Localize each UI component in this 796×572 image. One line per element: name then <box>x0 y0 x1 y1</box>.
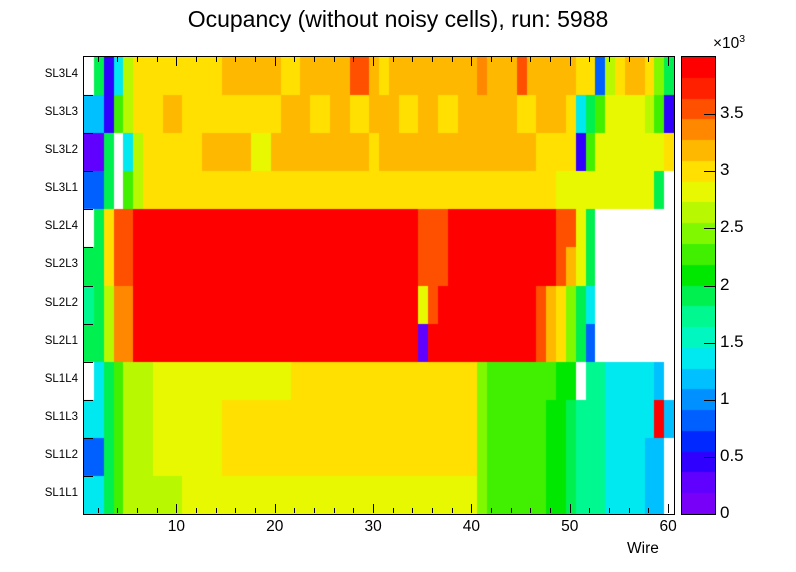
y-axis-label-sl3l2: SL3L2 <box>8 144 78 156</box>
x-axis-tick <box>314 508 315 513</box>
x-axis-tick-top <box>235 57 236 62</box>
colorbar-tick-label-1.5: 1.5 <box>720 332 744 352</box>
x-axis-tick-top <box>176 57 177 66</box>
x-axis-tick <box>491 508 492 513</box>
x-axis-tick <box>550 508 551 513</box>
y-axis-label-sl1l1: SL1L1 <box>8 487 78 499</box>
x-axis-tick-top <box>609 57 610 62</box>
x-axis-tick <box>235 508 236 513</box>
x-axis-tick <box>393 508 394 513</box>
y-axis-tick <box>84 438 93 439</box>
colorbar-tick-label-0: 0 <box>720 503 729 523</box>
x-axis-tick <box>589 508 590 513</box>
x-axis-tick-top <box>393 57 394 62</box>
page-title: Ocupancy (without noisy cells), run: 598… <box>0 6 796 33</box>
colorbar[interactable] <box>681 56 716 515</box>
x-axis-tick-top <box>530 57 531 62</box>
occupancy-heatmap[interactable] <box>84 57 674 514</box>
x-axis-tick <box>511 508 512 513</box>
x-axis-tick-top <box>668 57 669 66</box>
x-axis-tick-label-40: 40 <box>451 518 491 536</box>
y-axis-label-sl2l4: SL2L4 <box>8 220 78 232</box>
x-axis-tick <box>255 508 256 513</box>
x-axis-tick-top <box>452 57 453 62</box>
x-axis-tick <box>98 508 99 513</box>
colorbar-tick <box>704 343 715 344</box>
colorbar-tick <box>704 114 715 115</box>
colorbar-tick-label-3: 3 <box>720 160 729 180</box>
x-axis-tick-label-30: 30 <box>353 518 393 536</box>
y-axis-tick <box>84 133 93 134</box>
y-axis-label-sl2l3: SL2L3 <box>8 258 78 270</box>
y-axis-label-sl3l3: SL3L3 <box>8 106 78 118</box>
colorbar-exponent-base: ×10 <box>713 35 739 52</box>
colorbar-exponent-power: 3 <box>739 33 745 45</box>
colorbar-tick-label-2.5: 2.5 <box>720 217 744 237</box>
x-axis-tick <box>117 508 118 513</box>
x-axis-tick <box>157 508 158 513</box>
x-axis-tick <box>432 508 433 513</box>
x-axis-tick <box>629 508 630 513</box>
x-axis-tick-top <box>629 57 630 62</box>
x-axis-tick-label-20: 20 <box>255 518 295 536</box>
x-axis-tick-top <box>98 57 99 62</box>
x-axis-tick-top <box>216 57 217 62</box>
x-axis-tick-top <box>294 57 295 62</box>
x-axis-tick-label-50: 50 <box>550 518 590 536</box>
x-axis-tick-top <box>511 57 512 62</box>
x-axis-tick <box>176 504 177 513</box>
x-axis-tick-top <box>314 57 315 62</box>
x-axis-tick <box>275 504 276 513</box>
x-axis-tick-top <box>137 57 138 62</box>
x-axis-tick <box>452 508 453 513</box>
x-axis-tick-top <box>117 57 118 62</box>
heatmap-plot-area[interactable] <box>83 56 675 515</box>
x-axis-tick <box>373 504 374 513</box>
y-axis-tick <box>84 324 93 325</box>
y-axis-tick <box>84 286 93 287</box>
colorbar-tick <box>704 400 715 401</box>
x-axis-tick-top <box>589 57 590 62</box>
colorbar-tick <box>704 286 715 287</box>
x-axis-tick <box>609 508 610 513</box>
colorbar-exponent: ×103 <box>713 33 745 53</box>
x-axis-title: Wire <box>627 540 659 558</box>
x-axis-tick <box>412 508 413 513</box>
root-canvas: Ocupancy (without noisy cells), run: 598… <box>0 0 796 572</box>
x-axis-tick-top <box>373 57 374 66</box>
y-axis-label-sl1l2: SL1L2 <box>8 449 78 461</box>
colorbar-tick-label-1: 1 <box>720 389 729 409</box>
x-axis-tick <box>353 508 354 513</box>
x-axis-tick <box>216 508 217 513</box>
x-axis-tick-top <box>648 57 649 62</box>
y-axis-labels: SL1L1SL1L2SL1L3SL1L4SL2L1SL2L2SL2L3SL2L4… <box>0 56 78 513</box>
x-axis-ticks-top <box>83 56 675 66</box>
colorbar-tick <box>704 171 715 172</box>
x-axis-tick-top <box>334 57 335 62</box>
x-axis-tick <box>570 504 571 513</box>
x-axis-tick-top <box>255 57 256 62</box>
x-axis-tick-top <box>196 57 197 62</box>
x-axis-tick <box>471 504 472 513</box>
y-axis-tick <box>84 476 93 477</box>
x-axis-tick-label-60: 60 <box>648 518 688 536</box>
y-axis-tick <box>84 362 93 363</box>
x-axis-tick-top <box>412 57 413 62</box>
x-axis-tick-top <box>157 57 158 62</box>
x-axis-tick <box>334 508 335 513</box>
y-axis-label-sl1l4: SL1L4 <box>8 373 78 385</box>
colorbar-tick <box>704 228 715 229</box>
y-axis-label-sl2l2: SL2L2 <box>8 297 78 309</box>
colorbar-tick-label-2: 2 <box>720 275 729 295</box>
x-axis-tick-label-10: 10 <box>156 518 196 536</box>
x-axis-tick <box>668 504 669 513</box>
x-axis-tick <box>530 508 531 513</box>
y-axis-tick <box>84 400 93 401</box>
x-axis-tick <box>137 508 138 513</box>
y-axis-tick <box>84 171 93 172</box>
y-axis-label-sl3l1: SL3L1 <box>8 182 78 194</box>
y-axis-label-sl1l3: SL1L3 <box>8 411 78 423</box>
x-axis-tick-top <box>491 57 492 62</box>
x-axis-tick-top <box>570 57 571 66</box>
y-axis-label-sl2l1: SL2L1 <box>8 335 78 347</box>
x-axis-tick-top <box>471 57 472 66</box>
colorbar-tick-label-3.5: 3.5 <box>720 103 744 123</box>
colorbar-tick <box>704 457 715 458</box>
x-axis-tick <box>648 508 649 513</box>
colorbar-tick-label-0.5: 0.5 <box>720 446 744 466</box>
y-axis-tick <box>84 95 93 96</box>
y-axis-label-sl3l4: SL3L4 <box>8 68 78 80</box>
y-axis-tick <box>84 209 93 210</box>
x-axis-tick <box>196 508 197 513</box>
x-axis-tick-top <box>550 57 551 62</box>
x-axis-tick-top <box>275 57 276 66</box>
x-axis-tick-top <box>353 57 354 62</box>
x-axis-tick <box>294 508 295 513</box>
y-axis-tick <box>84 247 93 248</box>
x-axis-tick-top <box>432 57 433 62</box>
